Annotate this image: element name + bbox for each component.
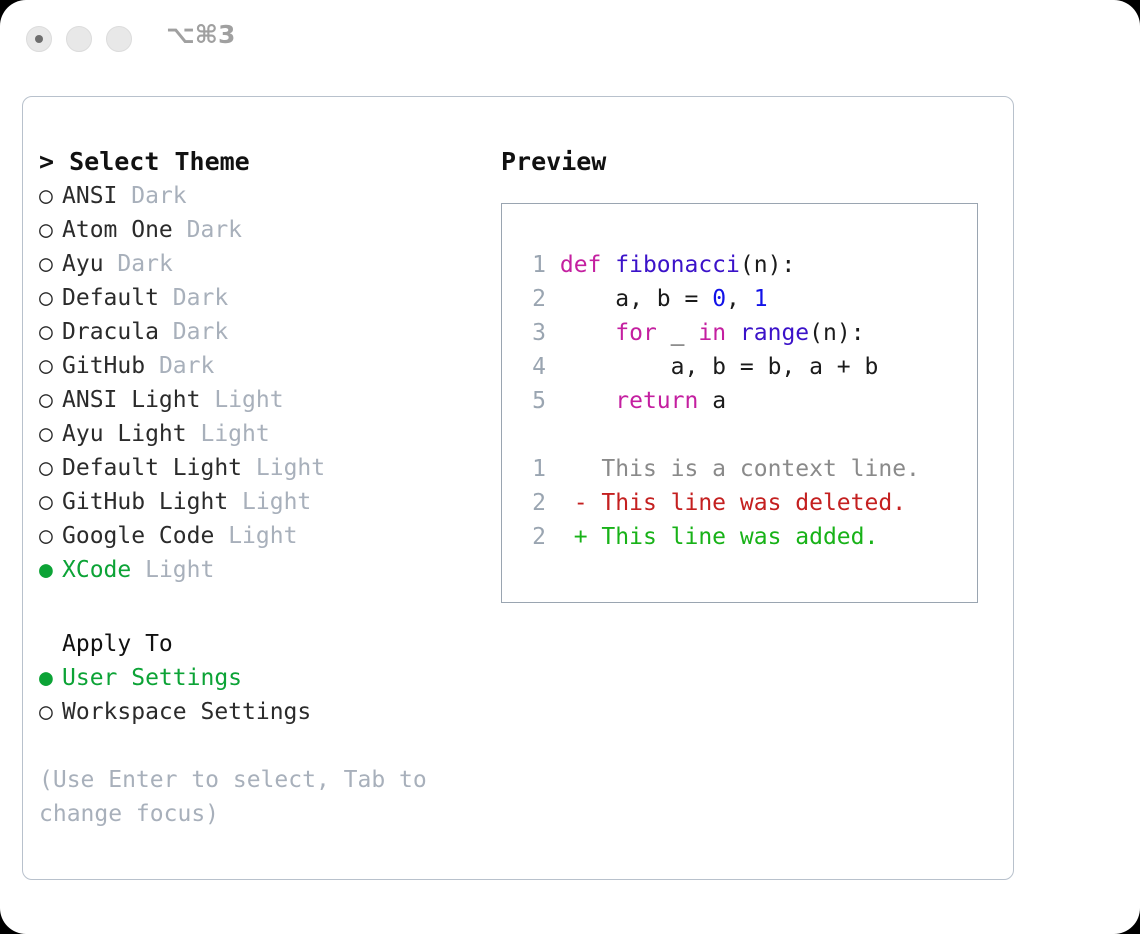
radio-unselected-icon: ○ — [39, 417, 62, 451]
theme-option-xcode[interactable]: ●XCode Light — [39, 553, 499, 587]
code-token: in — [698, 320, 726, 346]
code-token — [726, 320, 740, 346]
radio-unselected-icon: ○ — [39, 213, 62, 247]
line-number: 1 — [520, 248, 546, 282]
main-panel: > Select Theme ○ANSI Dark○Atom One Dark○… — [22, 96, 1014, 880]
line-number: 2 — [520, 486, 546, 520]
code-token: (n): — [809, 320, 864, 346]
code-line: 4 a, b = b, a + b — [520, 350, 920, 384]
radio-unselected-icon: ○ — [39, 315, 62, 349]
keyboard-shortcut-label: ⌥⌘3 — [166, 20, 235, 49]
theme-option-label: ANSI Light — [62, 387, 200, 413]
radio-unselected-icon: ○ — [39, 451, 62, 485]
theme-option-label: GitHub — [62, 353, 145, 379]
theme-selector-header: > Select Theme — [39, 145, 499, 179]
theme-option-variant: Light — [214, 387, 283, 413]
maximize-button[interactable] — [106, 26, 132, 52]
theme-option-label: Google Code — [62, 523, 214, 549]
code-token: a, b = — [560, 286, 712, 312]
theme-option-label: Atom One — [62, 217, 173, 243]
diff-line: 2 - This line was deleted. — [520, 486, 920, 520]
window-titlebar: ⌥⌘3 — [0, 0, 1140, 78]
radio-unselected-icon: ○ — [39, 281, 62, 315]
keyboard-hint-text: (Use Enter to select, Tab to change focu… — [39, 763, 459, 831]
theme-option-variant: Light — [228, 523, 297, 549]
line-number: 4 — [520, 350, 546, 384]
apply-to-header: Apply To — [39, 627, 499, 661]
theme-option-label: ANSI — [62, 183, 117, 209]
apply-to-option-label: Workspace Settings — [62, 699, 311, 725]
theme-option-ansi-light[interactable]: ○ANSI Light Light — [39, 383, 499, 417]
theme-option-variant: Dark — [131, 183, 186, 209]
line-number: 5 — [520, 384, 546, 418]
radio-unselected-icon: ○ — [39, 383, 62, 417]
theme-option-label: Ayu Light — [62, 421, 187, 447]
line-number: 2 — [520, 282, 546, 316]
code-preview-area: 1 def fibonacci(n):2 a, b = 0, 13 for _ … — [520, 248, 920, 554]
code-token: a, b = b, a + b — [560, 354, 879, 380]
apply-to-option-label: User Settings — [62, 665, 242, 691]
theme-option-variant: Light — [200, 421, 269, 447]
code-line: 3 for _ in range(n): — [520, 316, 920, 350]
theme-option-label: Dracula — [62, 319, 159, 345]
theme-option-atom-one[interactable]: ○Atom One Dark — [39, 213, 499, 247]
theme-option-variant: Light — [256, 455, 325, 481]
code-token: fibonacci — [615, 252, 740, 278]
line-number: 2 — [520, 520, 546, 554]
theme-list: ○ANSI Dark○Atom One Dark○Ayu Dark○Defaul… — [39, 179, 499, 587]
diff-line: 2 + This line was added. — [520, 520, 920, 554]
theme-option-google-code[interactable]: ○Google Code Light — [39, 519, 499, 553]
code-spacer — [520, 418, 920, 452]
code-token: return — [615, 388, 698, 414]
radio-unselected-icon: ○ — [39, 695, 62, 729]
theme-option-default-light[interactable]: ○Default Light Light — [39, 451, 499, 485]
code-line: 1 def fibonacci(n): — [520, 248, 920, 282]
code-token: This is a context line. — [560, 456, 920, 482]
radio-selected-icon: ● — [39, 553, 62, 587]
code-token: (n): — [740, 252, 795, 278]
code-line: 2 a, b = 0, 1 — [520, 282, 920, 316]
code-token: a — [698, 388, 726, 414]
theme-option-variant: Dark — [117, 251, 172, 277]
theme-option-variant: Dark — [159, 353, 214, 379]
theme-option-variant: Light — [242, 489, 311, 515]
radio-unselected-icon: ○ — [39, 247, 62, 281]
code-token: range — [740, 320, 809, 346]
theme-selector-column: > Select Theme ○ANSI Dark○Atom One Dark○… — [39, 145, 499, 831]
apply-to-list: ●User Settings○Workspace Settings — [39, 661, 499, 729]
code-token: 0 — [712, 286, 726, 312]
theme-option-label: GitHub Light — [62, 489, 228, 515]
preview-box: 1 def fibonacci(n):2 a, b = 0, 13 for _ … — [501, 203, 978, 603]
theme-option-label: XCode — [62, 557, 131, 583]
line-number: 3 — [520, 316, 546, 350]
diff-line: 1 This is a context line. — [520, 452, 920, 486]
radio-unselected-icon: ○ — [39, 519, 62, 553]
apply-to-option-workspace-settings[interactable]: ○Workspace Settings — [39, 695, 499, 729]
minimize-button[interactable] — [66, 26, 92, 52]
theme-option-ayu-light[interactable]: ○Ayu Light Light — [39, 417, 499, 451]
theme-option-ayu[interactable]: ○Ayu Dark — [39, 247, 499, 281]
preview-column: Preview 1 def fibonacci(n):2 a, b = 0, 1… — [501, 145, 1001, 603]
theme-option-variant: Dark — [173, 285, 228, 311]
code-token: , — [726, 286, 754, 312]
theme-option-variant: Dark — [173, 319, 228, 345]
apply-to-section: Apply To ●User Settings○Workspace Settin… — [39, 627, 499, 729]
code-token — [560, 388, 615, 414]
theme-option-variant: Light — [145, 557, 214, 583]
theme-option-default[interactable]: ○Default Dark — [39, 281, 499, 315]
code-token: for — [615, 320, 657, 346]
apply-to-option-user-settings[interactable]: ●User Settings — [39, 661, 499, 695]
theme-option-dracula[interactable]: ○Dracula Dark — [39, 315, 499, 349]
preview-header: Preview — [501, 145, 1001, 179]
theme-option-variant: Dark — [187, 217, 242, 243]
code-token: + This line was added. — [560, 524, 879, 550]
code-token: 1 — [754, 286, 768, 312]
theme-option-github[interactable]: ○GitHub Dark — [39, 349, 499, 383]
code-token — [560, 320, 615, 346]
radio-unselected-icon: ○ — [39, 349, 62, 383]
code-token: _ — [657, 320, 699, 346]
theme-option-ansi[interactable]: ○ANSI Dark — [39, 179, 499, 213]
theme-option-label: Default Light — [62, 455, 242, 481]
theme-option-label: Default — [62, 285, 159, 311]
code-token: def — [560, 252, 615, 278]
close-button-dot — [35, 35, 43, 43]
code-line: 5 return a — [520, 384, 920, 418]
theme-option-github-light[interactable]: ○GitHub Light Light — [39, 485, 499, 519]
radio-selected-icon: ● — [39, 661, 62, 695]
radio-unselected-icon: ○ — [39, 179, 62, 213]
code-token: - This line was deleted. — [560, 490, 906, 516]
radio-unselected-icon: ○ — [39, 485, 62, 519]
app-window: ⌥⌘3 > Select Theme ○ANSI Dark○Atom One D… — [0, 0, 1140, 934]
line-number: 1 — [520, 452, 546, 486]
theme-option-label: Ayu — [62, 251, 104, 277]
